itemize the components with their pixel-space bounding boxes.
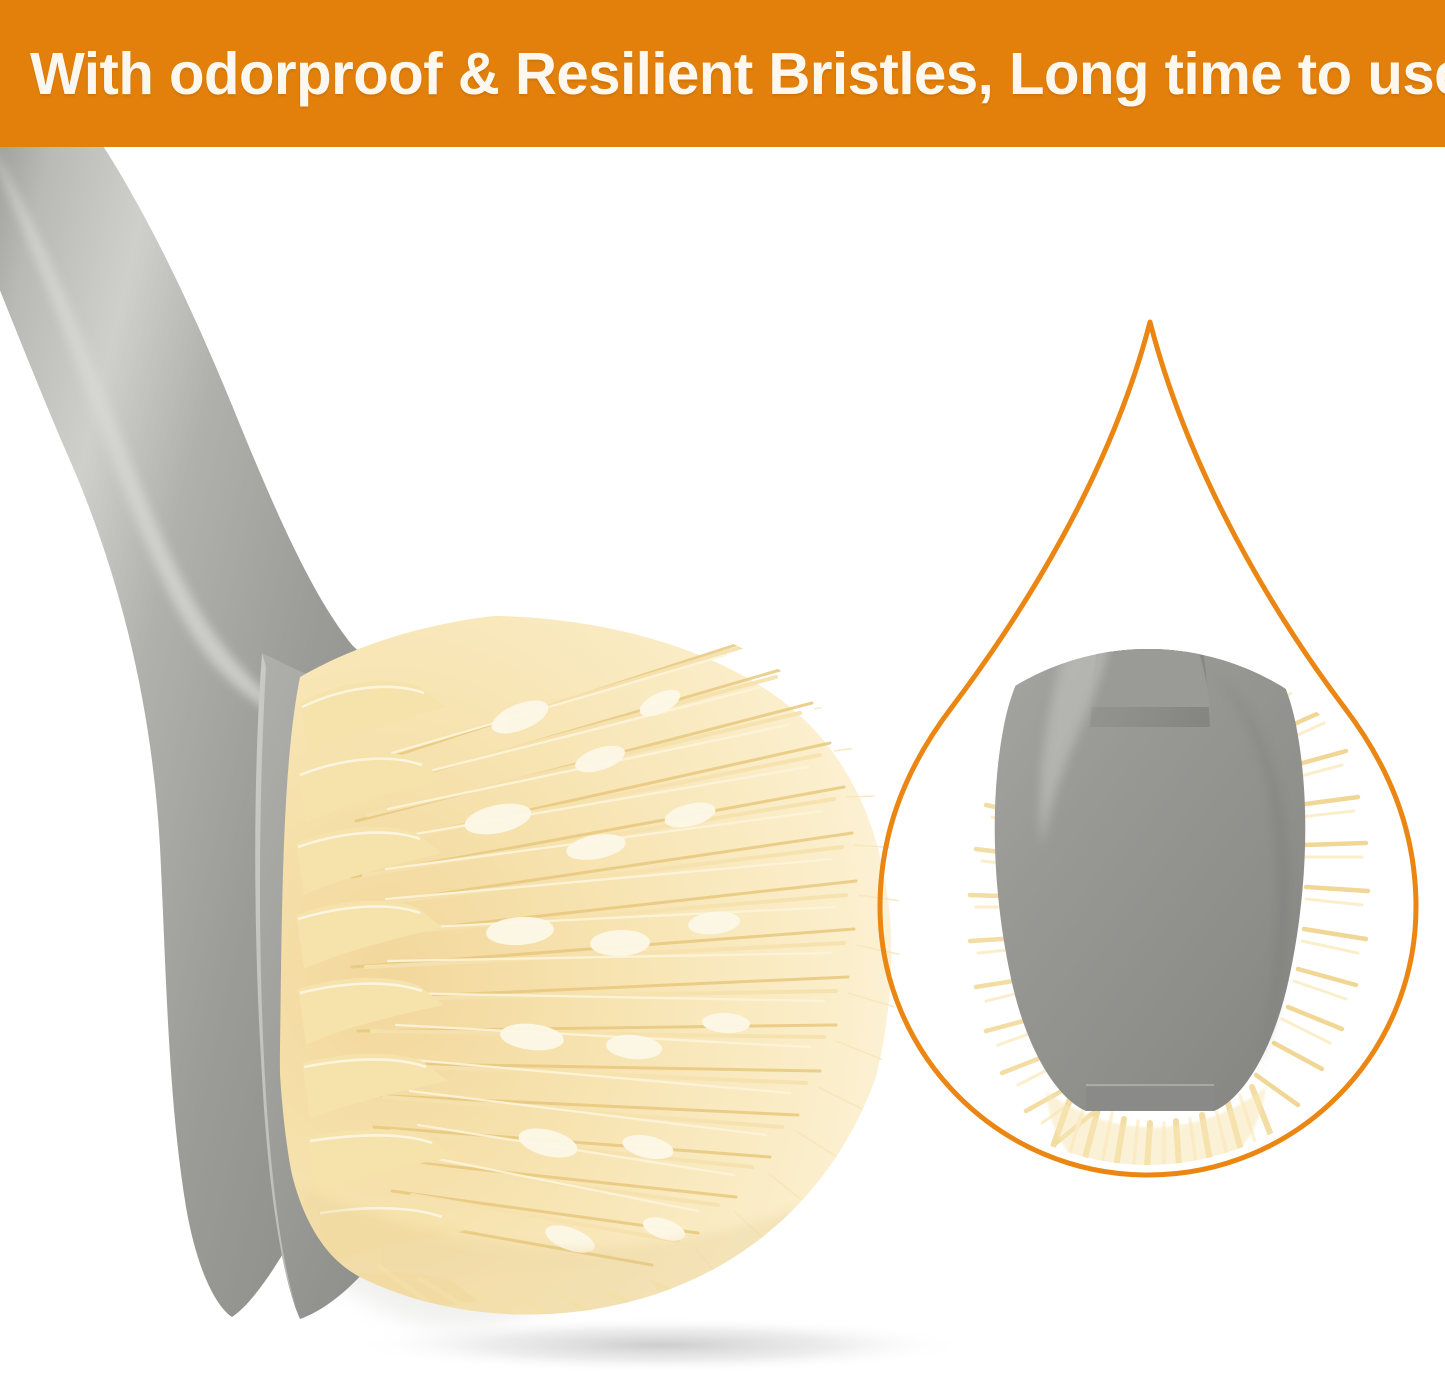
headline-banner: With odorproof & Resilient Bristles, Lon…: [0, 0, 1445, 147]
bristle-fan: [276, 616, 916, 1341]
callout-inset-content: [970, 323, 1368, 1193]
product-marketing-image: With odorproof & Resilient Bristles, Lon…: [0, 0, 1445, 1373]
teardrop-callout: [880, 322, 1416, 1193]
product-photo-stage: [0, 147, 1445, 1373]
product-illustration: [0, 147, 1445, 1373]
main-brush: [0, 147, 916, 1345]
headline-text: With odorproof & Resilient Bristles, Lon…: [30, 0, 1404, 147]
